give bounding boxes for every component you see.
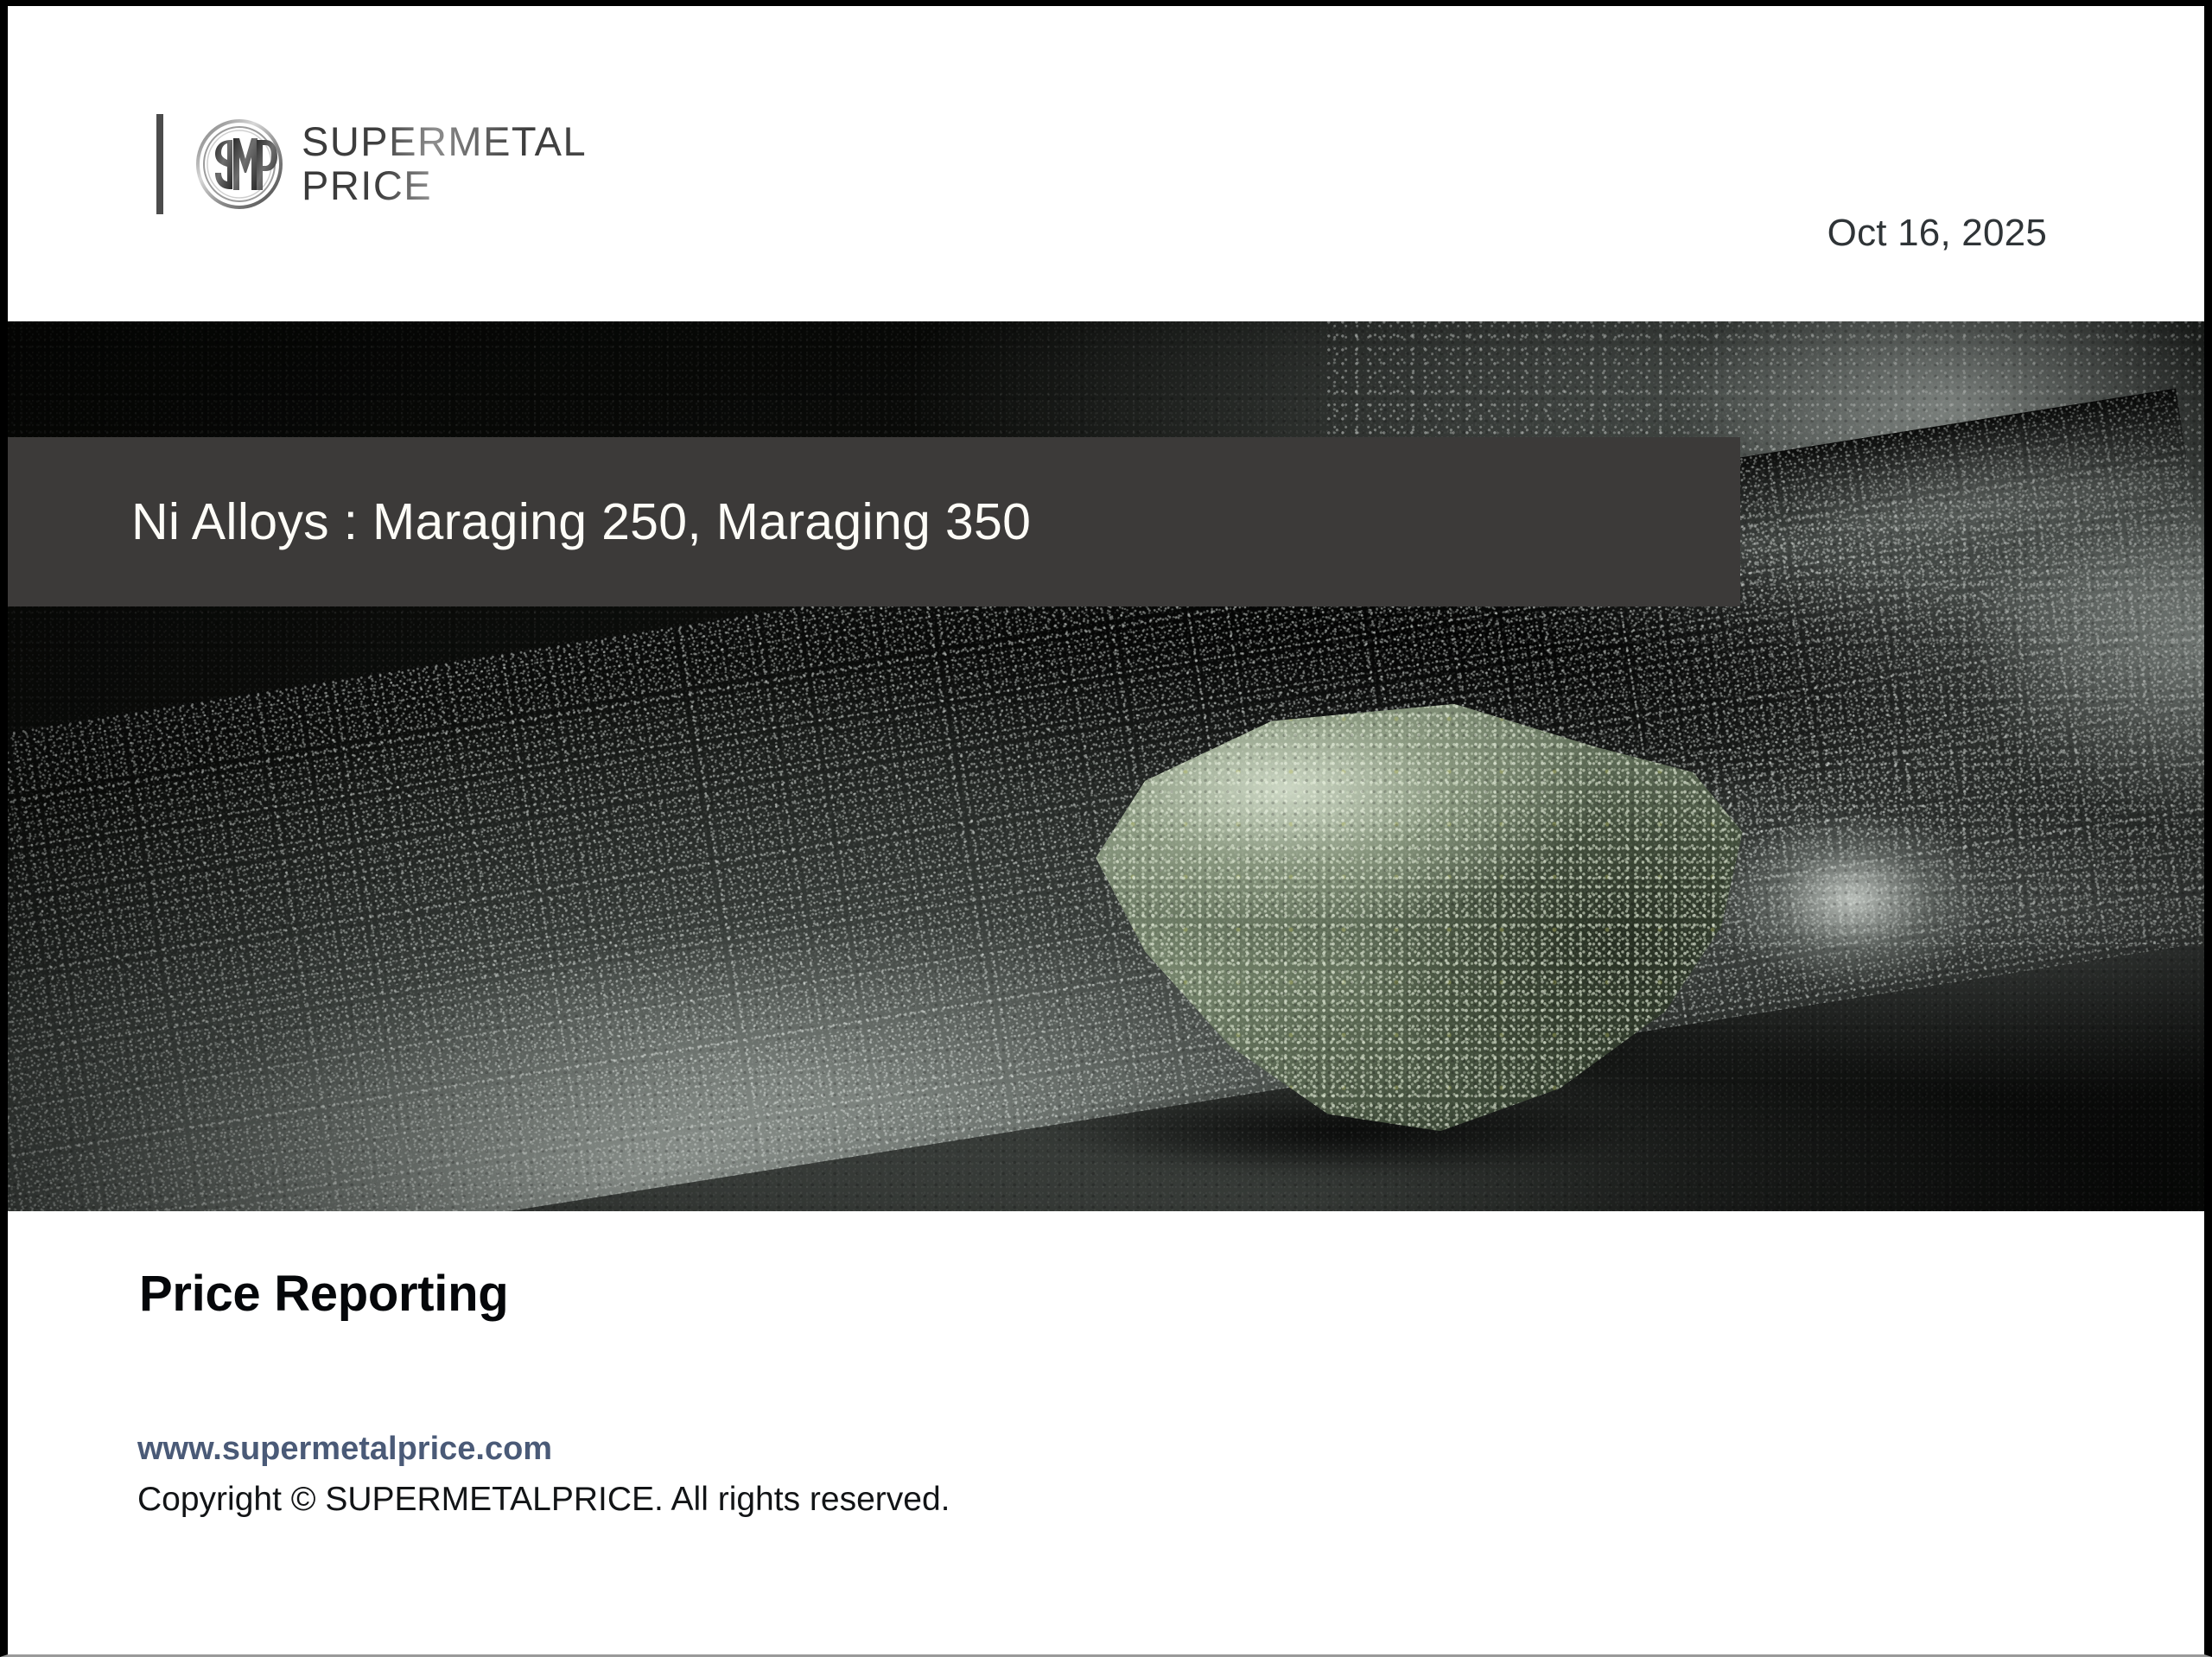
title-banner: Ni Alloys : Maraging 250, Maraging 350	[8, 437, 1740, 606]
page-footer: Price Reporting www.supermetalprice.com …	[8, 1211, 2204, 1648]
report-cover-page: SUPERMETAL PRICE Oct 16, 2025 Ni Alloys …	[0, 0, 2212, 1657]
page-header: SUPERMETAL PRICE Oct 16, 2025	[8, 6, 2204, 321]
smp-monogram-icon	[194, 119, 284, 209]
brand-divider-rule	[156, 114, 163, 214]
brand-wordmark: SUPERMETAL PRICE	[302, 122, 587, 205]
report-date: Oct 16, 2025	[1827, 212, 2047, 255]
page-title: Ni Alloys : Maraging 250, Maraging 350	[131, 492, 1031, 551]
copyright-notice: Copyright © SUPERMETALPRICE. All rights …	[137, 1481, 950, 1519]
brand-name-line-2: PRICE	[302, 166, 587, 206]
brand-name-line-1: SUPERMETAL	[302, 122, 587, 162]
section-title: Price Reporting	[139, 1265, 508, 1323]
hero-image: Ni Alloys : Maraging 250, Maraging 350	[8, 321, 2204, 1211]
website-link[interactable]: www.supermetalprice.com	[137, 1431, 552, 1468]
brand-logo[interactable]: SUPERMETAL PRICE	[156, 114, 587, 214]
